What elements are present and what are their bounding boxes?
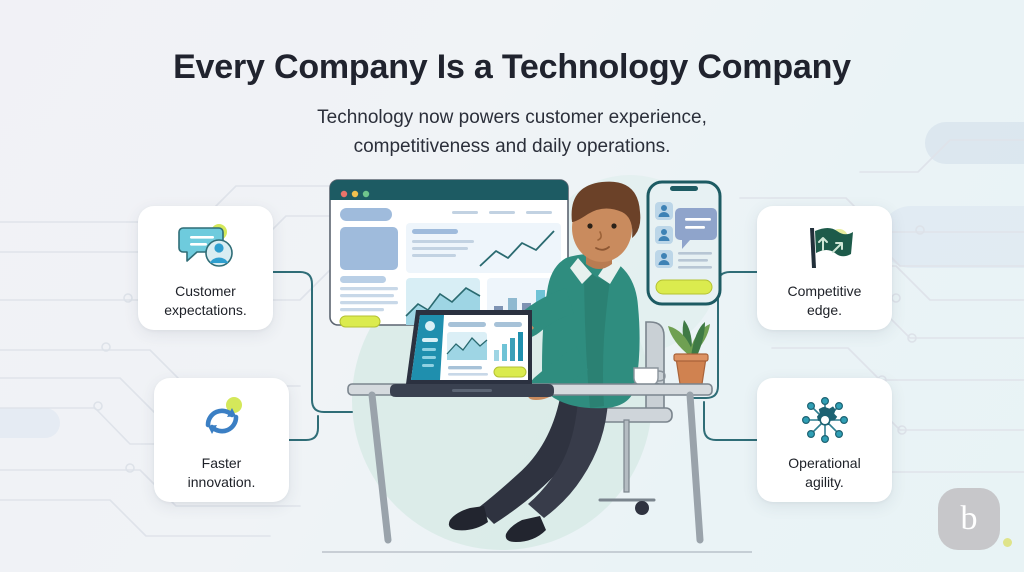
brand-logo: b: [938, 488, 1000, 550]
feature-card-label: Customer expectations.: [158, 282, 253, 320]
page-title: Every Company Is a Technology Company: [0, 48, 1024, 87]
brand-logo-dot: [1003, 538, 1012, 547]
feature-card-customer-expectations[interactable]: Customer expectations.: [138, 206, 273, 330]
feature-card-label: Operational agility.: [782, 454, 866, 492]
brand-logo-mark: b: [961, 502, 978, 536]
refresh-cycle-icon: [191, 394, 253, 446]
feature-card-faster-innovation[interactable]: Faster innovation.: [154, 378, 289, 502]
feature-card-label: Competitive edge.: [782, 282, 868, 320]
subtitle-line-1: Technology now powers customer experienc…: [0, 104, 1024, 133]
feature-card-operational-agility[interactable]: Operational agility.: [757, 378, 892, 502]
feature-card-competitive-edge[interactable]: Competitive edge.: [757, 206, 892, 330]
flag-arrows-icon: [794, 222, 856, 274]
page-subtitle: Technology now powers customer experienc…: [0, 104, 1024, 162]
infographic-canvas: Every Company Is a Technology Company Te…: [0, 0, 1024, 572]
chat-bubble-user-icon: [175, 222, 237, 274]
desk-items: [629, 320, 710, 389]
feature-card-label: Faster innovation.: [182, 454, 262, 492]
subtitle-line-2: competitiveness and daily operations.: [0, 133, 1024, 162]
smartphone: [648, 182, 720, 304]
potted-plant: [668, 320, 710, 384]
laptop: [390, 310, 554, 397]
gear-network-icon: [794, 394, 856, 446]
